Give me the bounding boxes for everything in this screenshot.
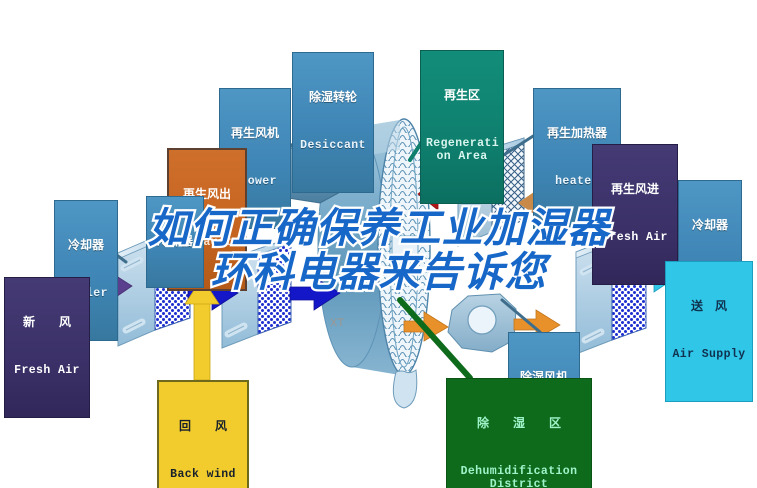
label-dehumidification-district-en: Dehumidification District [452,466,586,488]
label-regeneration-area-en: Regenerati on Area [426,138,498,164]
label-desiccant-wheel-cn: 除湿转轮 [298,91,368,104]
label-fresh-air-in[interactable]: 新 风 Fresh Air [4,277,90,418]
label-cooler-right-cn: 冷却器 [684,219,736,232]
label-air-supply-cn: 送 风 [671,300,747,313]
label-back-wind-cn: 回 风 [164,420,242,433]
label-desiccant-wheel[interactable]: 除湿转轮 Desiccant [292,52,374,193]
rotor-drip-tray [393,370,416,408]
label-back-wind-en: Back wind [164,469,242,482]
label-regeneration-fresh-air-in-cn: 再生风进 [598,183,672,196]
label-cooler-left-second[interactable]: 冷却器 [146,196,204,288]
label-regeneration-heater-cn: 再生加热器 [539,127,615,140]
svg-text:XT: XT [330,317,344,329]
label-regeneration-area[interactable]: 再生区 Regenerati on Area [420,50,504,204]
dehumidifier-schematic: XT [0,0,757,488]
label-fresh-air-in-cn: 新 风 [10,316,84,329]
label-regeneration-area-cn: 再生区 [426,89,498,102]
label-air-supply[interactable]: 送 风 Air Supply [665,261,753,402]
label-air-supply-en: Air Supply [671,349,747,362]
label-fresh-air-in-en: Fresh Air [10,365,84,378]
label-cooler-left-cn: 冷却器 [60,239,112,252]
label-desiccant-wheel-en: Desiccant [298,140,368,153]
label-regeneration-fresh-air-in-en: Fresh Air [598,232,672,245]
label-back-wind[interactable]: 回 风 Back wind [157,380,249,488]
label-regeneration-blower-cn: 再生风机 [225,127,285,140]
label-cooler-left-second-cn: 冷却器 [152,235,198,248]
label-dehumidification-district[interactable]: 除 湿 区 Dehumidification District [446,378,592,488]
label-dehumidification-district-cn: 除 湿 区 [452,417,586,430]
